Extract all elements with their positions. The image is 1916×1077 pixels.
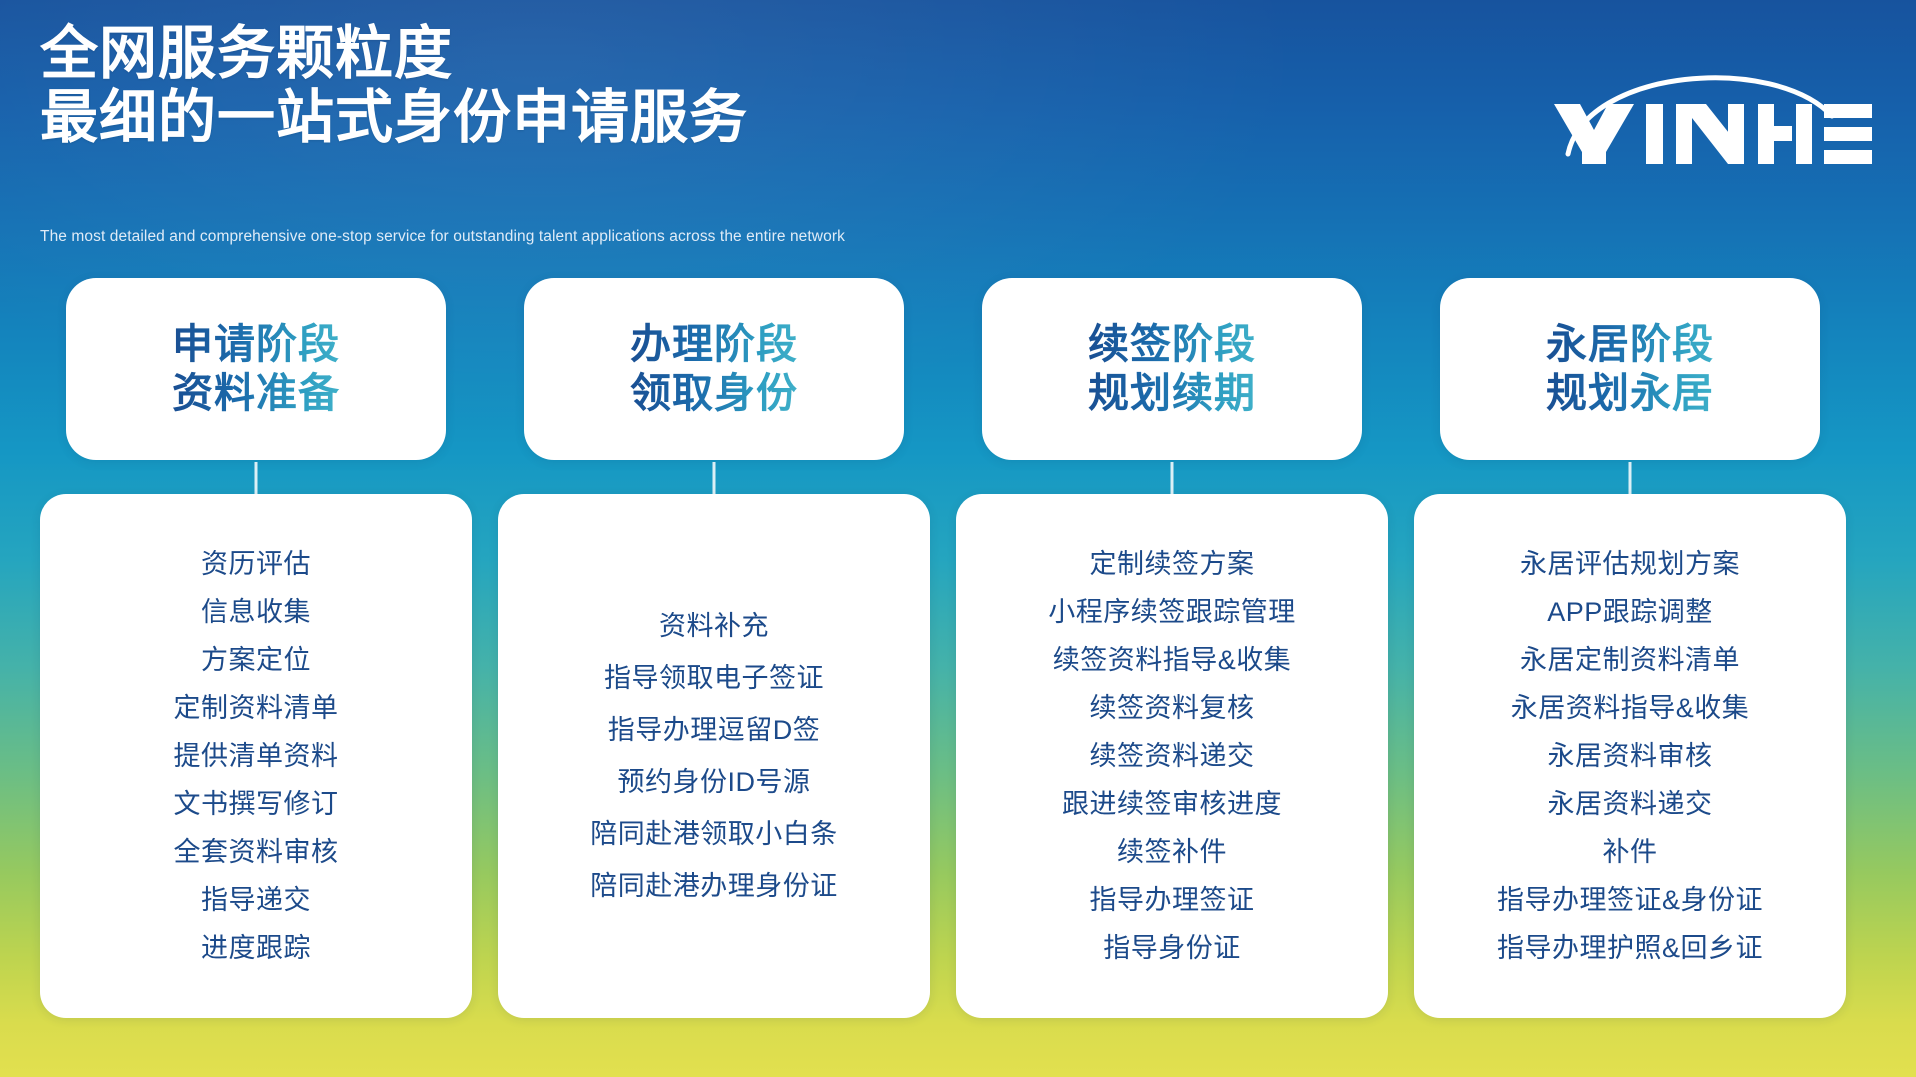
stage-header-line-2b: 领取身份: [630, 369, 798, 418]
list-item: 进度跟踪: [201, 924, 311, 972]
list-item: 指导身份证: [1103, 924, 1241, 972]
list-item: 指导递交: [201, 876, 311, 924]
stage-header-line-4a: 永居阶段: [1546, 320, 1714, 369]
list-item: 全套资料审核: [174, 828, 339, 876]
stage-header-line-3a: 续签阶段: [1088, 320, 1256, 369]
stage-column-3: 续签阶段 规划续期 定制续签方案 小程序续签跟踪管理 续签资料指导&收集 续签资…: [956, 278, 1388, 1018]
list-item: 方案定位: [201, 636, 311, 684]
connector-line-4: [1629, 462, 1632, 494]
list-item: 永居资料指导&收集: [1511, 684, 1750, 732]
stage-header-line-2a: 办理阶段: [630, 320, 798, 369]
list-item: 永居资料审核: [1548, 732, 1713, 780]
connector-line-1: [255, 462, 258, 494]
list-item: 续签资料复核: [1090, 684, 1255, 732]
list-item: 信息收集: [201, 588, 311, 636]
list-item: 续签补件: [1117, 828, 1227, 876]
header: 全网服务颗粒度 最细的一站式身份申请服务 The most detailed a…: [0, 0, 1916, 260]
list-item: 预约身份ID号源: [618, 756, 811, 808]
stage-column-2: 办理阶段 领取身份 资料补充 指导领取电子签证 指导办理逗留D签 预约身份ID号…: [498, 278, 930, 1018]
list-item: 跟进续签审核进度: [1062, 780, 1282, 828]
list-item: 指导办理逗留D签: [608, 704, 821, 756]
list-item: 定制续签方案: [1090, 540, 1255, 588]
stage-list-card-4: 永居评估规划方案 APP跟踪调整 永居定制资料清单 永居资料指导&收集 永居资料…: [1414, 494, 1846, 1018]
stage-header-card-1[interactable]: 申请阶段 资料准备: [66, 278, 446, 460]
page-subtitle: The most detailed and comprehensive one-…: [40, 228, 845, 246]
list-item: 指导办理签证: [1090, 876, 1255, 924]
list-item: 指导办理签证&身份证: [1497, 876, 1763, 924]
page-title: 全网服务颗粒度 最细的一站式身份申请服务: [40, 22, 748, 150]
list-item: 资料补充: [659, 600, 769, 652]
stage-column-1: 申请阶段 资料准备 资历评估 信息收集 方案定位 定制资料清单 提供清单资料 文…: [40, 278, 472, 1018]
list-item: 永居资料递交: [1548, 780, 1713, 828]
stage-header-card-3[interactable]: 续签阶段 规划续期: [982, 278, 1362, 460]
stage-header-line-3b: 规划续期: [1088, 369, 1256, 418]
list-item: 指导领取电子签证: [604, 652, 824, 704]
list-item: 陪同赴港办理身份证: [590, 860, 838, 912]
list-item: 小程序续签跟踪管理: [1048, 588, 1296, 636]
list-item: 文书撰写修订: [174, 780, 339, 828]
stage-header-line-1a: 申请阶段: [172, 320, 340, 369]
list-item: 续签资料递交: [1090, 732, 1255, 780]
list-item: 定制资料清单: [174, 684, 339, 732]
list-item: 补件: [1603, 828, 1658, 876]
connector-line-3: [1171, 462, 1174, 494]
yinhe-logo: [1546, 48, 1876, 168]
yinhe-logo-icon: [1546, 48, 1876, 168]
list-item: 陪同赴港领取小白条: [590, 808, 838, 860]
stage-list-card-1: 资历评估 信息收集 方案定位 定制资料清单 提供清单资料 文书撰写修订 全套资料…: [40, 494, 472, 1018]
poster-root: 全网服务颗粒度 最细的一站式身份申请服务 The most detailed a…: [0, 0, 1916, 1077]
stage-list-card-2: 资料补充 指导领取电子签证 指导办理逗留D签 预约身份ID号源 陪同赴港领取小白…: [498, 494, 930, 1018]
stage-header-line-4b: 规划永居: [1546, 369, 1714, 418]
title-line-1: 全网服务颗粒度: [40, 22, 748, 86]
connector-line-2: [713, 462, 716, 494]
list-item: APP跟踪调整: [1547, 588, 1713, 636]
list-item: 续签资料指导&收集: [1053, 636, 1292, 684]
list-item: 提供清单资料: [174, 732, 339, 780]
list-item: 永居评估规划方案: [1520, 540, 1740, 588]
stage-column-4: 永居阶段 规划永居 永居评估规划方案 APP跟踪调整 永居定制资料清单 永居资料…: [1414, 278, 1846, 1018]
stage-header-card-4[interactable]: 永居阶段 规划永居: [1440, 278, 1820, 460]
list-item: 资历评估: [201, 540, 311, 588]
stage-header-card-2[interactable]: 办理阶段 领取身份: [524, 278, 904, 460]
title-line-2: 最细的一站式身份申请服务: [40, 86, 748, 150]
stage-header-line-1b: 资料准备: [172, 369, 340, 418]
list-item: 指导办理护照&回乡证: [1497, 924, 1763, 972]
stages-grid: 申请阶段 资料准备 资历评估 信息收集 方案定位 定制资料清单 提供清单资料 文…: [40, 278, 1876, 1018]
stage-list-card-3: 定制续签方案 小程序续签跟踪管理 续签资料指导&收集 续签资料复核 续签资料递交…: [956, 494, 1388, 1018]
list-item: 永居定制资料清单: [1520, 636, 1740, 684]
